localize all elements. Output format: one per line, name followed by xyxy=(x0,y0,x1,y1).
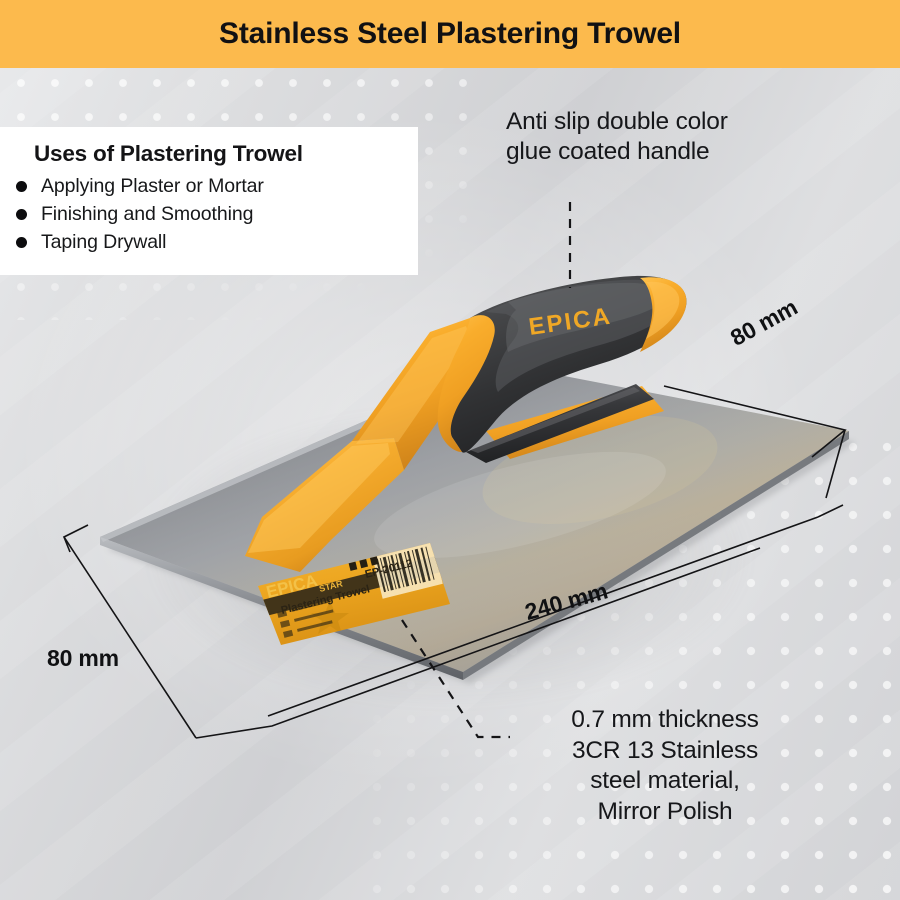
bullet-icon xyxy=(16,209,27,220)
uses-card: Uses of Plastering Trowel Applying Plast… xyxy=(0,127,418,275)
annotation-handle-line2: glue coated handle xyxy=(506,137,856,167)
bullet-icon xyxy=(16,237,27,248)
annotation-handle: Anti slip double color glue coated handl… xyxy=(506,107,856,167)
uses-list: Applying Plaster or Mortar Finishing and… xyxy=(16,175,402,254)
product-infographic: EPICA xyxy=(0,0,900,900)
bullet-icon xyxy=(16,181,27,192)
annotation-material-line4: Mirror Polish xyxy=(500,797,830,828)
list-item: Applying Plaster or Mortar xyxy=(16,175,402,198)
dimension-label-width-left: 80 mm xyxy=(47,645,119,672)
annotation-material-line1: 0.7 mm thickness xyxy=(500,705,830,736)
uses-item-label: Taping Drywall xyxy=(41,231,166,254)
annotation-handle-line1: Anti slip double color xyxy=(506,107,856,137)
annotation-material-line2: 3CR 13 Stainless xyxy=(500,736,830,767)
header-banner: Stainless Steel Plastering Trowel xyxy=(0,0,900,68)
annotation-material: 0.7 mm thickness 3CR 13 Stainless steel … xyxy=(500,705,830,828)
page-title: Stainless Steel Plastering Trowel xyxy=(219,17,681,51)
list-item: Taping Drywall xyxy=(16,231,402,254)
annotation-material-line3: steel material, xyxy=(500,766,830,797)
uses-item-label: Applying Plaster or Mortar xyxy=(41,175,264,198)
uses-item-label: Finishing and Smoothing xyxy=(41,203,253,226)
list-item: Finishing and Smoothing xyxy=(16,203,402,226)
uses-heading: Uses of Plastering Trowel xyxy=(34,141,402,167)
